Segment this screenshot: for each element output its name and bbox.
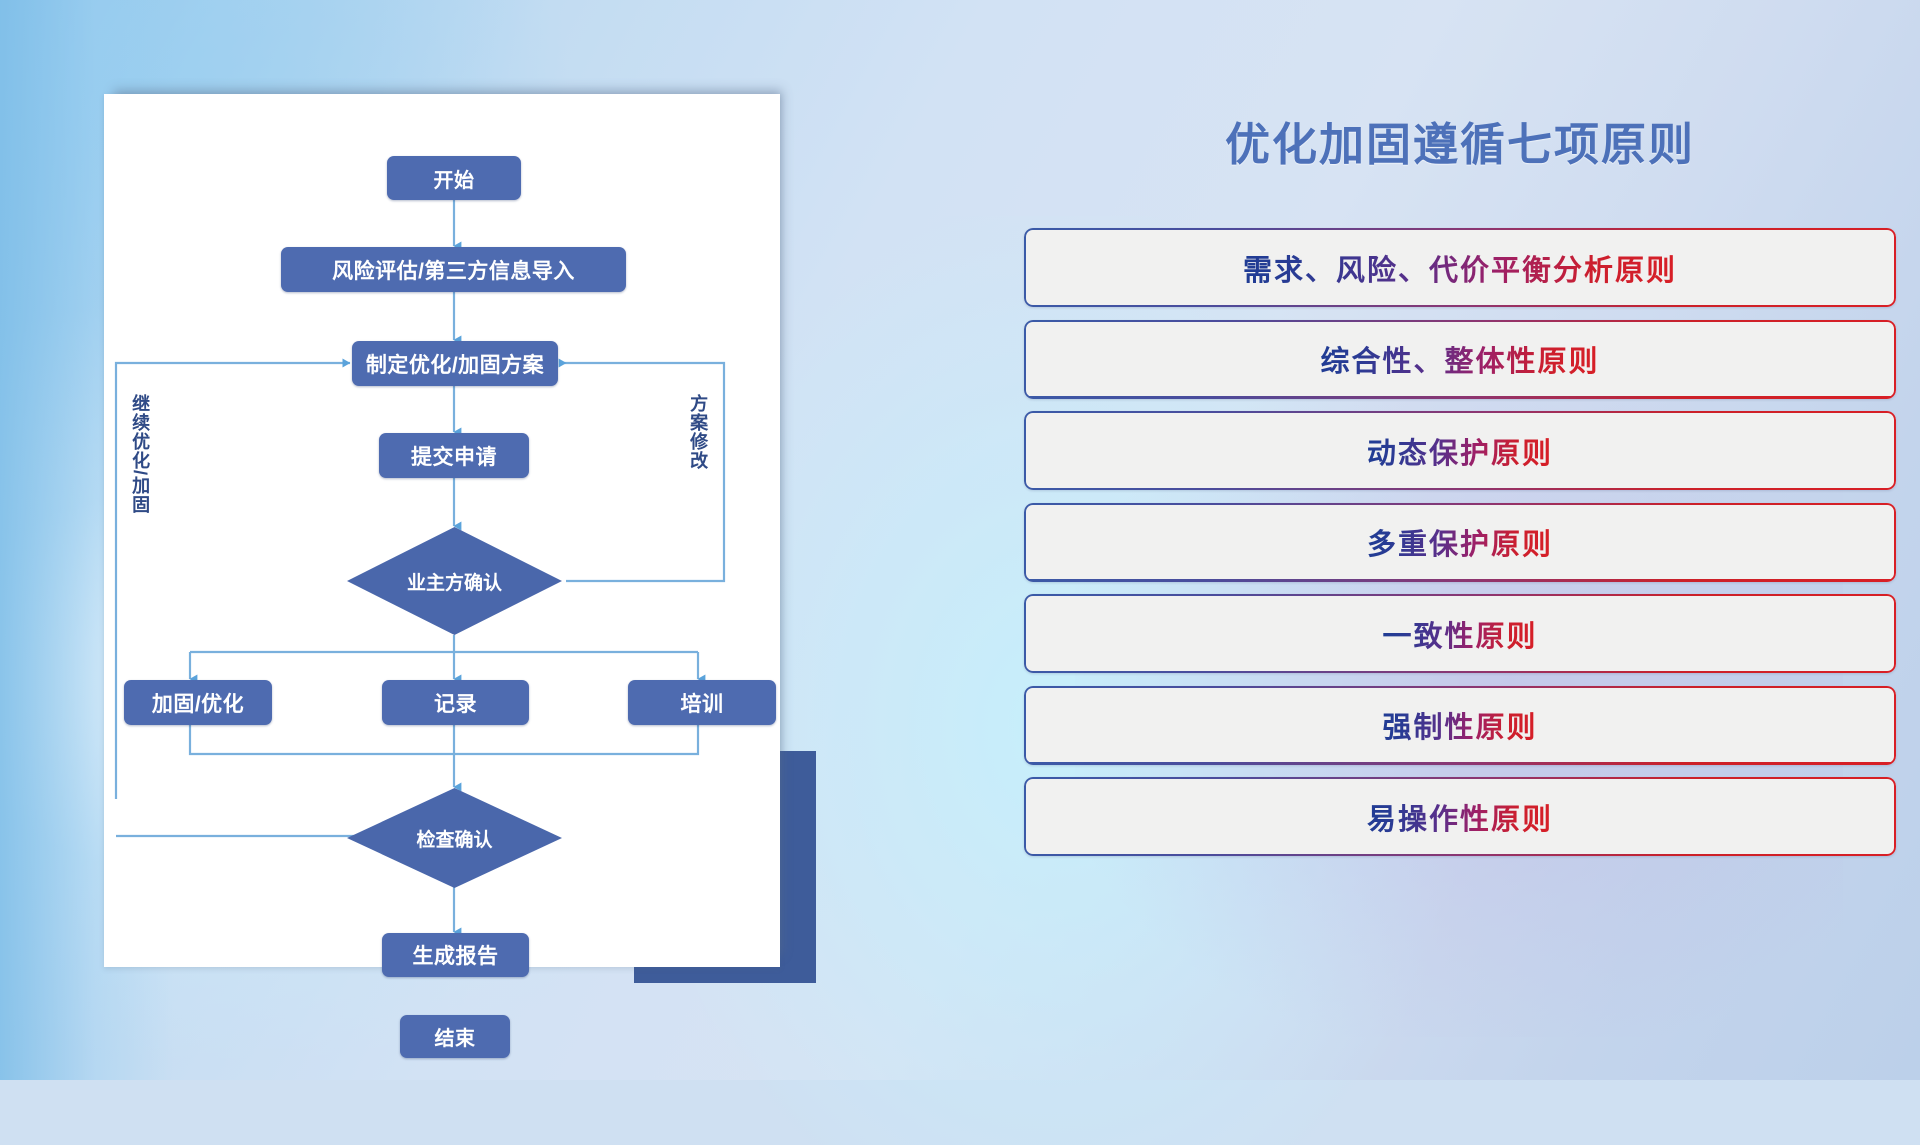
- node-owner-confirm[interactable]: 业主方确认: [347, 527, 562, 635]
- edge-label-left-loop: 继续优化/加固: [130, 394, 149, 514]
- list-item[interactable]: 动态保护原则: [1024, 411, 1896, 490]
- principle-label: 强制性原则: [1382, 704, 1537, 746]
- principles-list: 需求、风险、代价平衡分析原则 综合性、整体性原则 动态保护原则 多重保护原则 一…: [1024, 228, 1896, 869]
- list-item[interactable]: 强制性原则: [1024, 686, 1896, 765]
- node-submit-application-label: 提交申请: [411, 441, 497, 471]
- principle-label: 一致性原则: [1382, 613, 1537, 655]
- principle-label: 综合性、整体性原则: [1320, 338, 1599, 380]
- node-inspect-confirm-label: 检查确认: [416, 825, 492, 852]
- principle-label: 动态保护原则: [1367, 430, 1553, 472]
- node-reinforce[interactable]: 加固/优化: [124, 680, 272, 725]
- list-item[interactable]: 易操作性原则: [1024, 777, 1896, 856]
- node-start[interactable]: 开始: [387, 156, 521, 200]
- principle-label: 易操作性原则: [1367, 796, 1553, 838]
- node-training[interactable]: 培训: [628, 680, 776, 725]
- list-item[interactable]: 一致性原则: [1024, 594, 1896, 673]
- node-risk-assessment[interactable]: 风险评估/第三方信息导入: [281, 247, 626, 292]
- flowchart-canvas: 开始 风险评估/第三方信息导入 制定优化/加固方案 提交申请 业主方确认 加固/…: [104, 94, 780, 967]
- list-item[interactable]: 多重保护原则: [1024, 503, 1896, 582]
- node-start-label: 开始: [434, 164, 475, 193]
- node-owner-confirm-label: 业主方确认: [407, 568, 502, 595]
- flowchart-region: 开始 风险评估/第三方信息导入 制定优化/加固方案 提交申请 业主方确认 加固/…: [0, 0, 830, 1080]
- node-generate-report[interactable]: 生成报告: [382, 933, 529, 977]
- node-record-label: 记录: [434, 688, 477, 718]
- list-item[interactable]: 需求、风险、代价平衡分析原则: [1024, 228, 1896, 307]
- node-generate-report-label: 生成报告: [413, 940, 499, 970]
- node-inspect-confirm[interactable]: 检查确认: [347, 788, 562, 888]
- node-end[interactable]: 结束: [400, 1015, 510, 1058]
- list-item[interactable]: 综合性、整体性原则: [1024, 320, 1896, 399]
- flowchart-card: 开始 风险评估/第三方信息导入 制定优化/加固方案 提交申请 业主方确认 加固/…: [104, 94, 780, 967]
- principle-label: 多重保护原则: [1367, 521, 1553, 563]
- node-plan-label: 制定优化/加固方案: [366, 349, 544, 379]
- node-reinforce-label: 加固/优化: [152, 688, 244, 718]
- node-training-label: 培训: [681, 688, 724, 718]
- edge-label-right-loop: 方案修改: [688, 394, 707, 470]
- node-record[interactable]: 记录: [382, 680, 529, 725]
- page-title: 优化加固遵循七项原则: [1000, 108, 1920, 173]
- principles-region: 优化加固遵循七项原则 需求、风险、代价平衡分析原则 综合性、整体性原则 动态保护…: [1000, 0, 1920, 1080]
- node-risk-assessment-label: 风险评估/第三方信息导入: [332, 255, 575, 285]
- node-plan[interactable]: 制定优化/加固方案: [352, 341, 558, 386]
- node-submit-application[interactable]: 提交申请: [379, 433, 529, 478]
- principle-label: 需求、风险、代价平衡分析原则: [1243, 247, 1677, 289]
- node-end-label: 结束: [435, 1022, 476, 1051]
